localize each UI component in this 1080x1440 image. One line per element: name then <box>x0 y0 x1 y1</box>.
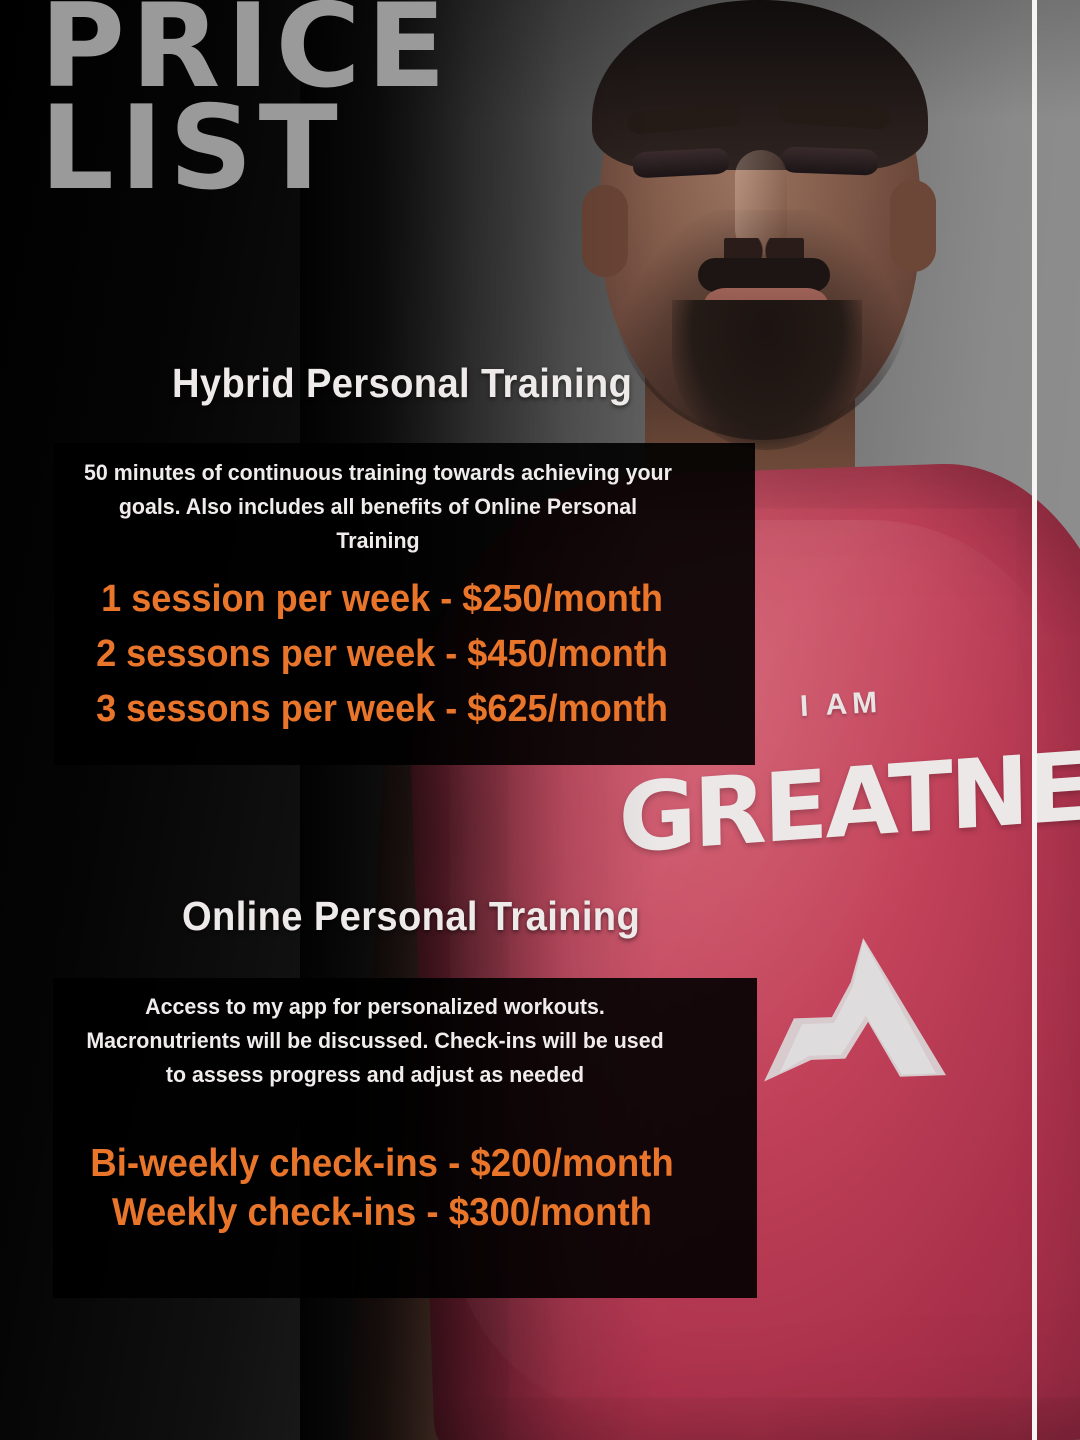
page-title: PRICE LIST <box>40 0 452 200</box>
price-line: 1 session per week - $250/month <box>78 572 686 627</box>
price-list-hybrid: 1 session per week - $250/month 2 sesson… <box>78 572 686 737</box>
section-title-hybrid: Hybrid Personal Training <box>172 360 632 407</box>
vertical-white-rule <box>1032 0 1037 1440</box>
section-description-hybrid: 50 minutes of continuous training toward… <box>84 456 673 559</box>
price-line: 2 sessons per week - $450/month <box>78 627 686 682</box>
price-line: Bi-weekly check-ins - $200/month <box>74 1140 690 1189</box>
price-list-poster: I AM GREATNESS PRICE LIST Hybrid Persona… <box>0 0 1080 1440</box>
price-line: 3 sessons per week - $625/month <box>78 682 686 737</box>
section-description-online: Access to my app for personalized workou… <box>81 990 670 1093</box>
price-line: Weekly check-ins - $300/month <box>74 1189 690 1238</box>
section-title-online: Online Personal Training <box>182 893 640 940</box>
price-list-online: Bi-weekly check-ins - $200/month Weekly … <box>74 1140 690 1238</box>
